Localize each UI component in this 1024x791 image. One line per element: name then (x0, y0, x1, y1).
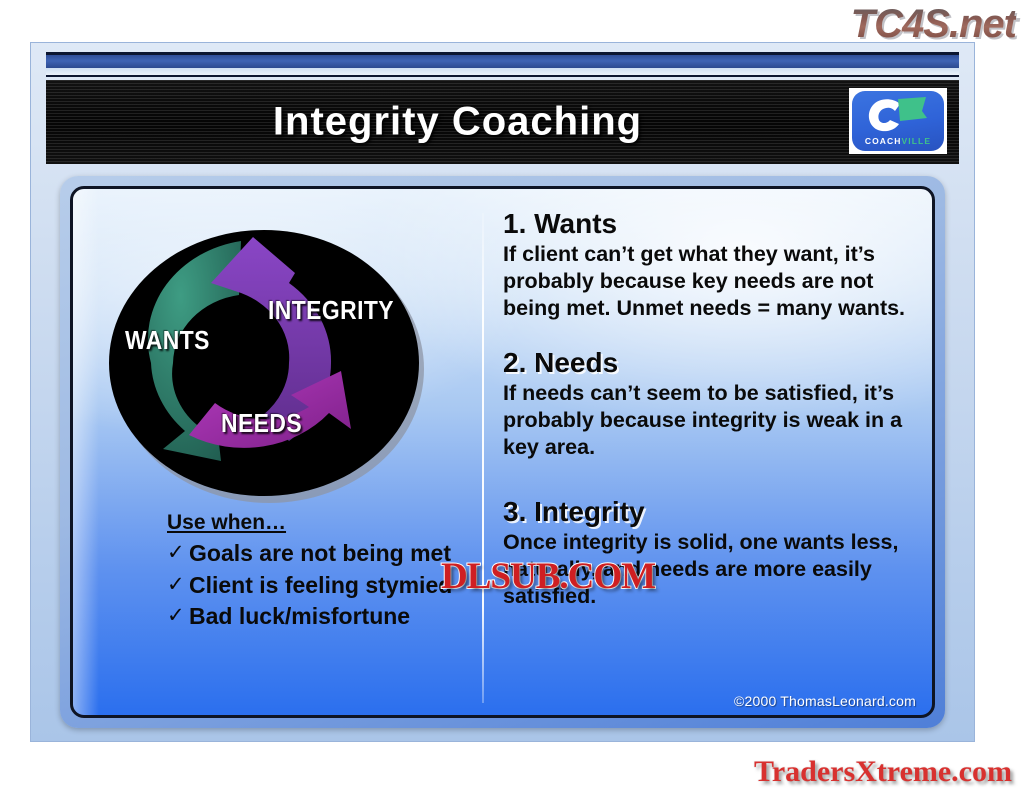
section-body: If client can’t get what they want, it’s… (503, 241, 918, 322)
check-icon: ✓ (167, 601, 189, 631)
coachville-flag-icon (896, 96, 930, 124)
use-when-block: Use when… ✓ Goals are not being met ✓ Cl… (167, 511, 487, 633)
section-wants: 1. Wants If client can’t get what they w… (503, 209, 918, 322)
section-heading: 2. Needs (503, 348, 918, 379)
frame-bar-light (46, 68, 959, 75)
use-when-item: ✓ Goals are not being met (167, 538, 487, 570)
slide-frame: Integrity Coaching COACHVILLE (30, 42, 975, 742)
use-when-title: Use when… (167, 511, 487, 535)
cycle-diagram: WANTS INTEGRITY NEEDS (93, 213, 438, 513)
page-title: Integrity Coaching (46, 100, 959, 145)
coachville-logo[interactable]: COACHVILLE (849, 88, 947, 154)
content-panel-frame: WANTS INTEGRITY NEEDS Use when… ✓ Goals … (60, 176, 945, 728)
section-body: If needs can’t seem to be satisfied, it’… (503, 380, 918, 461)
section-heading: 3. Integrity (503, 497, 918, 528)
copyright-notice: ©2000 ThomasLeonard.com (734, 693, 916, 709)
cycle-label-integrity: INTEGRITY (268, 295, 394, 326)
cycle-label-needs: NEEDS (221, 408, 302, 439)
cycle-diagram-svg (93, 213, 438, 513)
use-when-item-label: Client is feeling stymied (189, 570, 452, 602)
frame-bar-dark-lower (46, 75, 959, 77)
coachville-word-a: COACH (865, 136, 902, 146)
section-heading: 1. Wants (503, 209, 918, 240)
watermark-dlsub: DLSUB.COM (441, 555, 655, 598)
use-when-item: ✓ Client is feeling stymied (167, 570, 487, 602)
section-needs: 2. Needs If needs can’t seem to be satis… (503, 348, 918, 461)
coachville-wordmark: COACHVILLE (852, 136, 944, 146)
frame-bar-blue (46, 55, 959, 68)
site-brand-bottom: TradersXtreme.com (754, 755, 1012, 789)
coachville-logo-inner: COACHVILLE (852, 91, 944, 151)
content-panel: WANTS INTEGRITY NEEDS Use when… ✓ Goals … (70, 186, 935, 718)
cycle-label-wants: WANTS (125, 325, 210, 356)
check-icon: ✓ (167, 538, 189, 568)
sections-column: 1. Wants If client can’t get what they w… (503, 205, 918, 610)
site-brand-top: TC4S.net (851, 2, 1016, 47)
coachville-word-b: VILLE (902, 136, 932, 146)
use-when-item-label: Goals are not being met (189, 538, 451, 570)
use-when-item: ✓ Bad luck/misfortune (167, 601, 487, 633)
title-bar: Integrity Coaching COACHVILLE (46, 80, 959, 164)
use-when-item-label: Bad luck/misfortune (189, 601, 410, 633)
check-icon: ✓ (167, 570, 189, 600)
